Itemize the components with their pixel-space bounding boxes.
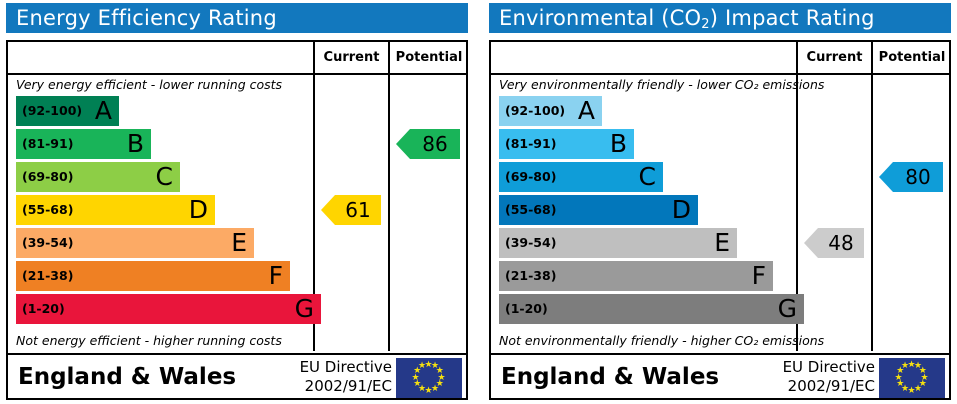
directive-line-1: EU Directive (222, 358, 392, 377)
band-letter-a: A (578, 96, 595, 126)
band-letter-e: E (714, 228, 730, 258)
column-header-current: Current (315, 42, 388, 73)
caption-top-co2: Very environmentally friendly - lower CO… (499, 77, 824, 92)
panel-title-co2: Environmental (CO2) Impact Rating (489, 3, 951, 33)
rating-grid-energy: Current Potential Very energy efficient … (6, 40, 468, 400)
band-row-f: (21-38)F (499, 261, 773, 291)
band-range-c: (69-80) (505, 162, 556, 192)
panel-title-text-co2-suffix: ) Impact Rating (710, 6, 875, 30)
grid-header-energy: Current Potential (8, 42, 466, 75)
band-letter-d: D (189, 195, 208, 225)
band-letter-a: A (95, 96, 112, 126)
grid-body-co2: Very environmentally friendly - lower CO… (491, 75, 949, 351)
directive-line-2: 2002/91/EC (222, 377, 392, 396)
body-divider-2 (388, 75, 390, 351)
column-header-potential: Potential (390, 42, 468, 73)
band-row-e: (39-54)E (499, 228, 737, 258)
band-range-a: (92-100) (505, 96, 565, 126)
band-range-g: (1-20) (22, 294, 65, 324)
band-letter-e: E (231, 228, 247, 258)
band-letter-f: F (269, 261, 283, 291)
band-letter-b: B (610, 129, 627, 159)
band-row-g: (1-20)G (16, 294, 321, 324)
band-row-c: (69-80)C (499, 162, 663, 192)
band-bars-energy: (92-100)A(81-91)B(69-80)C(55-68)D(39-54)… (16, 96, 321, 327)
band-range-c: (69-80) (22, 162, 73, 192)
band-range-e: (39-54) (22, 228, 73, 258)
band-letter-d: D (672, 195, 691, 225)
eu-directive-text-energy: EU Directive 2002/91/EC (222, 358, 392, 398)
band-row-c: (69-80)C (16, 162, 180, 192)
body-divider-2-co2 (871, 75, 873, 351)
band-range-a: (92-100) (22, 96, 82, 126)
band-letter-g: G (295, 294, 314, 324)
region-label-energy: England & Wales (18, 355, 236, 400)
band-letter-c: C (156, 162, 173, 192)
current-rating-arrow-co2: 48 (804, 228, 864, 258)
band-range-e: (39-54) (505, 228, 556, 258)
band-row-f: (21-38)F (16, 261, 290, 291)
eu-flag-icon: ★★★★★★★★★★★★ (396, 358, 462, 398)
eu-flag-star: ★ (418, 362, 427, 371)
panel-title-energy: Energy Efficiency Rating (6, 3, 468, 33)
directive-line-1-co2: EU Directive (705, 358, 875, 377)
co2-subscript: 2 (701, 17, 709, 32)
co2-impact-panel: Environmental (CO2) Impact Rating Curren… (483, 0, 957, 404)
band-letter-f: F (752, 261, 766, 291)
eu-flag-star: ★ (901, 362, 910, 371)
panel-title-text-co2: Environmental (CO (499, 6, 701, 30)
grid-footer-energy: England & Wales EU Directive 2002/91/EC … (8, 353, 466, 398)
column-header-potential-co2: Potential (873, 42, 951, 73)
caption-bottom-energy: Not energy efficient - higher running co… (16, 333, 282, 348)
band-bars-co2: (92-100)A(81-91)B(69-80)C(55-68)D(39-54)… (499, 96, 804, 327)
column-header-current-co2: Current (798, 42, 871, 73)
grid-body-energy: Very energy efficient - lower running co… (8, 75, 466, 351)
caption-top-energy: Very energy efficient - lower running co… (16, 77, 282, 92)
band-range-b: (81-91) (505, 129, 556, 159)
band-range-g: (1-20) (505, 294, 548, 324)
current-rating-arrow-energy: 61 (321, 195, 381, 225)
band-range-d: (55-68) (22, 195, 73, 225)
rating-grid-co2: Current Potential Very environmentally f… (489, 40, 951, 400)
eu-flag-icon-co2: ★★★★★★★★★★★★ (879, 358, 945, 398)
band-row-e: (39-54)E (16, 228, 254, 258)
region-label-co2: England & Wales (501, 355, 719, 400)
caption-bottom-co2: Not environmentally friendly - higher CO… (499, 333, 824, 348)
band-range-b: (81-91) (22, 129, 73, 159)
band-row-b: (81-91)B (16, 129, 151, 159)
grid-footer-co2: England & Wales EU Directive 2002/91/EC … (491, 353, 949, 398)
energy-efficiency-panel: Energy Efficiency Rating Current Potenti… (0, 0, 474, 404)
band-row-a: (92-100)A (499, 96, 602, 126)
band-row-g: (1-20)G (499, 294, 804, 324)
directive-line-2-co2: 2002/91/EC (705, 377, 875, 396)
band-letter-g: G (778, 294, 797, 324)
grid-header-co2: Current Potential (491, 42, 949, 75)
band-letter-b: B (127, 129, 144, 159)
band-letter-c: C (639, 162, 656, 192)
potential-rating-arrow-energy: 86 (396, 129, 460, 159)
eu-directive-text-co2: EU Directive 2002/91/EC (705, 358, 875, 398)
potential-rating-arrow-co2: 80 (879, 162, 943, 192)
band-range-f: (21-38) (505, 261, 556, 291)
band-range-f: (21-38) (22, 261, 73, 291)
band-row-a: (92-100)A (16, 96, 119, 126)
epc-charts-sheet: Energy Efficiency Rating Current Potenti… (0, 0, 957, 404)
band-row-d: (55-68)D (499, 195, 698, 225)
band-row-d: (55-68)D (16, 195, 215, 225)
band-range-d: (55-68) (505, 195, 556, 225)
band-row-b: (81-91)B (499, 129, 634, 159)
panel-title-text: Energy Efficiency Rating (16, 6, 277, 30)
